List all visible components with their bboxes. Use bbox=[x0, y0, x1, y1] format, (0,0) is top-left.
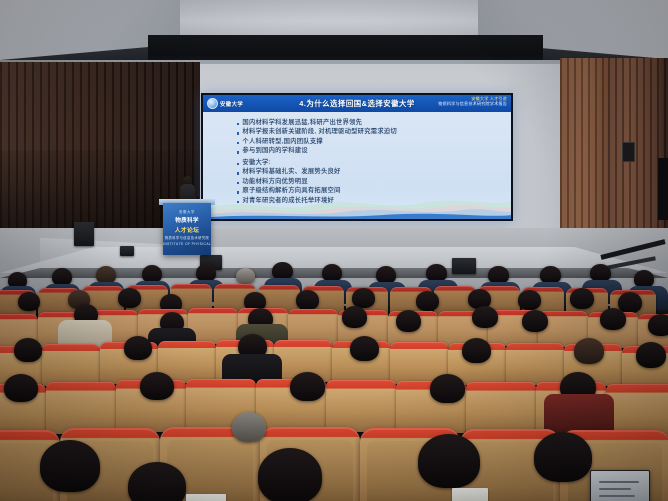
audience-head bbox=[396, 310, 421, 332]
audience-head bbox=[462, 338, 491, 363]
slide-bullet-text: 材料学报未创新关键阶段, 对机理驱动型研究需求迫切 bbox=[242, 129, 397, 136]
lectern-line2: 物质科学 bbox=[163, 216, 211, 224]
lectern-line4: 物质科学与信息技术研究院 bbox=[163, 235, 211, 240]
audience-head bbox=[570, 288, 594, 309]
audience-head bbox=[258, 448, 322, 501]
lectern-line3: 人才论坛 bbox=[163, 225, 211, 234]
bullet-dot-icon bbox=[237, 151, 239, 153]
audience-seat bbox=[42, 344, 100, 386]
auditorium-photo: 安徽大学 4.为什么选择回国&选择安徽大学 安徽大学 人才引进 物质科学与信息技… bbox=[0, 0, 668, 501]
stage-equipment-case bbox=[120, 246, 134, 256]
laptop-screen-line bbox=[599, 495, 635, 497]
audience-seat bbox=[466, 382, 536, 434]
laptop-screen-line bbox=[599, 488, 631, 490]
audience-head bbox=[14, 338, 42, 362]
audience-head bbox=[472, 306, 498, 328]
bullet-dot-icon bbox=[237, 132, 239, 134]
audience-head bbox=[430, 374, 465, 403]
audience-head bbox=[232, 412, 266, 442]
audience-seating bbox=[0, 262, 668, 501]
audience-head bbox=[18, 292, 40, 311]
slide-bullet-text: 材料学科基础扎实、发展势头良好 bbox=[242, 169, 340, 176]
slide-bullet: 参与到国内的学科建设 bbox=[237, 148, 501, 155]
audience-head bbox=[352, 288, 375, 308]
slide-header-right-line2: 物质科学与信息技术研究院学术报告 bbox=[438, 102, 507, 107]
slide-bullet-text: 参与到国内的学科建设 bbox=[242, 148, 307, 155]
slide-bullet-text: 安徽大学: bbox=[242, 160, 270, 167]
audience-seat bbox=[506, 343, 564, 385]
slide-bullet-text: 功能材料方向优势明显 bbox=[242, 179, 307, 186]
slide-bullet: 个人科研转型,国内团队支撑 bbox=[237, 139, 501, 146]
slide-bullet-group: 国内材料学科发展迅猛,科研产出世界领先 材料学报未创新关键阶段, 对机理驱动型研… bbox=[237, 120, 501, 155]
audience-head bbox=[600, 308, 626, 330]
audience-head bbox=[140, 372, 174, 400]
attendee-laptop bbox=[590, 470, 650, 501]
attendee-paper bbox=[186, 494, 226, 501]
lectern: 安徽大学 物质科学 人才论坛 物质科学与信息技术研究院 INSTITUTE OF… bbox=[163, 203, 211, 255]
wall-sign bbox=[622, 142, 635, 162]
audience-head bbox=[574, 338, 604, 364]
slide-wave-decoration bbox=[203, 189, 511, 219]
bullet-dot-icon bbox=[237, 123, 239, 125]
audience-head bbox=[350, 336, 379, 361]
audience-head bbox=[522, 310, 548, 332]
audience-head bbox=[534, 432, 592, 482]
audience-head bbox=[236, 268, 255, 284]
audience-head bbox=[296, 290, 319, 310]
bullet-dot-icon bbox=[237, 182, 239, 184]
audience-seat bbox=[326, 380, 396, 432]
slide-surface: 安徽大学 4.为什么选择回国&选择安徽大学 安徽大学 人才引进 物质科学与信息技… bbox=[203, 95, 511, 219]
audience-seat bbox=[606, 384, 668, 436]
bullet-dot-icon bbox=[237, 172, 239, 174]
audience-head bbox=[4, 374, 38, 402]
audience-head bbox=[636, 342, 666, 368]
audience-seat bbox=[46, 382, 116, 434]
audience-head bbox=[290, 372, 325, 401]
projection-screen: 安徽大学 4.为什么选择回国&选择安徽大学 安徽大学 人才引进 物质科学与信息技… bbox=[201, 93, 513, 221]
slide-bullet-text: 国内材料学科发展迅猛,科研产出世界领先 bbox=[242, 120, 362, 127]
slide-bullet: 材料学科基础扎实、发展势头良好 bbox=[237, 169, 501, 176]
slide-header-right: 安徽大学 人才引进 物质科学与信息技术研究院学术报告 bbox=[438, 97, 507, 106]
bullet-dot-icon bbox=[237, 142, 239, 144]
audience-head bbox=[342, 306, 367, 328]
attendee-paper bbox=[452, 488, 488, 501]
side-doorway bbox=[658, 158, 668, 220]
audience-head bbox=[40, 440, 100, 492]
lectern-line5: INSTITUTE OF PHYSICAL SCIENCE bbox=[163, 242, 211, 246]
audience-head bbox=[416, 291, 439, 311]
audience-head bbox=[118, 288, 141, 308]
slide-bullet: 安徽大学: bbox=[237, 160, 501, 167]
audience-head bbox=[648, 314, 668, 336]
slide-bullet-text: 个人科研转型,国内团队支撑 bbox=[242, 139, 323, 146]
slide-bullet: 国内材料学科发展迅猛,科研产出世界领先 bbox=[237, 120, 501, 127]
audience-head bbox=[518, 290, 541, 310]
wave-svg bbox=[203, 189, 511, 219]
bullet-dot-icon bbox=[237, 163, 239, 165]
laptop-screen-line bbox=[599, 481, 639, 483]
slide-bullet: 材料学报未创新关键阶段, 对机理驱动型研究需求迫切 bbox=[237, 129, 501, 136]
audience-head bbox=[418, 434, 480, 488]
slide-header-bar: 安徽大学 4.为什么选择回国&选择安徽大学 安徽大学 人才引进 物质科学与信息技… bbox=[203, 95, 511, 112]
audience-head bbox=[124, 336, 152, 360]
slide-bullet: 功能材料方向优势明显 bbox=[237, 179, 501, 186]
lectern-line1: 安徽大学 bbox=[163, 209, 211, 214]
stage-equipment-case bbox=[74, 222, 94, 246]
